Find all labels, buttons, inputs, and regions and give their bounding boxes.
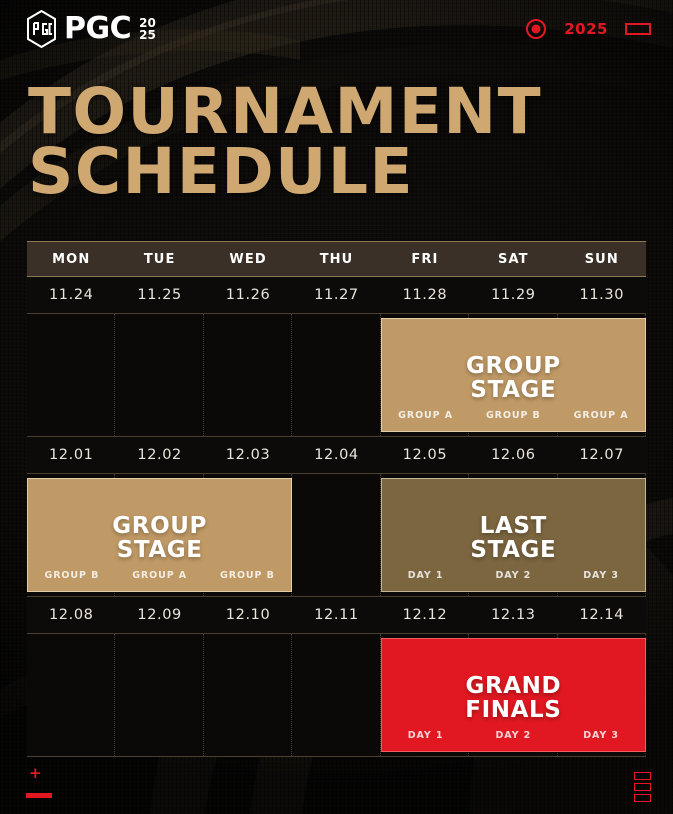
weekday-header-row: MONTUEWEDTHUFRISATSUN xyxy=(27,241,646,277)
event-sublabel: GROUP B xyxy=(204,570,292,581)
event-title-line-2: STAGE xyxy=(382,378,645,402)
weekday-header-sun: SUN xyxy=(558,242,646,276)
date-row: 12.0812.0912.1012.1112.1212.1312.14 xyxy=(27,597,646,634)
bar-mark-icon xyxy=(26,793,52,798)
event-sublabel: GROUP A xyxy=(382,410,470,421)
event-sublabels: DAY 1DAY 2DAY 3 xyxy=(382,570,645,581)
schedule-week: 12.0112.0212.0312.0412.0512.0612.07GROUP… xyxy=(27,437,646,597)
date-cell: 12.03 xyxy=(204,437,292,473)
empty-day-cell xyxy=(292,634,380,756)
event-sublabel: DAY 3 xyxy=(557,730,645,741)
weekday-header-sat: SAT xyxy=(469,242,557,276)
event-block[interactable]: GROUPSTAGEGROUP AGROUP BGROUP A xyxy=(381,318,646,432)
empty-day-cell xyxy=(115,634,203,756)
event-title-line-1: GROUP xyxy=(466,353,561,379)
event-sublabels: GROUP AGROUP BGROUP A xyxy=(382,410,645,421)
date-cell: 12.10 xyxy=(204,597,292,633)
date-row: 12.0112.0212.0312.0412.0512.0612.07 xyxy=(27,437,646,474)
date-cell: 12.01 xyxy=(27,437,115,473)
tournament-schedule-table: MONTUEWEDTHUFRISATSUN 11.2411.2511.2611.… xyxy=(27,241,646,757)
event-block[interactable]: GROUPSTAGEGROUP BGROUP AGROUP B xyxy=(27,478,292,592)
empty-day-cell xyxy=(292,314,380,436)
logo-year-bottom: 25 xyxy=(139,30,156,41)
weekday-header-mon: MON xyxy=(27,242,115,276)
logo-wordmark: PGC xyxy=(64,14,131,44)
event-block[interactable]: GRANDFINALSDAY 1DAY 2DAY 3 xyxy=(381,638,646,752)
page-header: PGC 20 25 2025 xyxy=(0,0,673,58)
event-title: GROUPSTAGE xyxy=(382,354,645,402)
stacked-rect-2 xyxy=(634,783,651,791)
header-right-group: 2025 xyxy=(525,18,651,40)
date-row: 11.2411.2511.2611.2711.2811.2911.30 xyxy=(27,277,646,314)
pgc-logo[interactable]: PGC 20 25 xyxy=(26,10,156,48)
empty-day-cell xyxy=(204,634,292,756)
event-sublabel: DAY 2 xyxy=(469,730,557,741)
date-cell: 12.05 xyxy=(381,437,469,473)
date-cell: 11.28 xyxy=(381,277,469,313)
event-sublabel: GROUP B xyxy=(28,570,116,581)
title-line-2: SCHEDULE xyxy=(28,142,653,202)
event-sublabel: DAY 1 xyxy=(382,730,470,741)
event-title-line-2: FINALS xyxy=(382,698,645,722)
events-row: GROUPSTAGEGROUP BGROUP AGROUP BLASTSTAGE… xyxy=(27,474,646,597)
stacked-rect-1 xyxy=(634,772,651,780)
date-cell: 12.12 xyxy=(381,597,469,633)
events-row: GROUPSTAGEGROUP AGROUP BGROUP A xyxy=(27,314,646,437)
date-cell: 12.07 xyxy=(558,437,646,473)
event-title-line-2: STAGE xyxy=(382,538,645,562)
date-cell: 11.29 xyxy=(469,277,557,313)
date-cell: 11.30 xyxy=(558,277,646,313)
event-sublabels: GROUP BGROUP AGROUP B xyxy=(28,570,291,581)
logo-year-stack: 20 25 xyxy=(139,18,156,40)
date-cell: 12.08 xyxy=(27,597,115,633)
event-title-line-1: LAST xyxy=(480,513,547,539)
title-line-1: TOURNAMENT xyxy=(28,82,653,142)
date-cell: 12.04 xyxy=(292,437,380,473)
pgc-shield-icon xyxy=(26,10,57,48)
weeks-container: 11.2411.2511.2611.2711.2811.2911.30GROUP… xyxy=(27,277,646,757)
event-sublabel: GROUP B xyxy=(469,410,557,421)
date-cell: 11.24 xyxy=(27,277,115,313)
weekday-header-tue: TUE xyxy=(115,242,203,276)
weekday-header-fri: FRI xyxy=(381,242,469,276)
date-cell: 12.09 xyxy=(115,597,203,633)
date-cell: 11.25 xyxy=(115,277,203,313)
event-title: GRANDFINALS xyxy=(382,674,645,722)
stacked-rect-3 xyxy=(634,794,651,802)
date-cell: 11.27 xyxy=(292,277,380,313)
date-cell: 12.13 xyxy=(469,597,557,633)
header-year-label: 2025 xyxy=(564,20,608,38)
record-circle-icon[interactable] xyxy=(525,18,547,40)
empty-day-cell xyxy=(27,634,115,756)
event-sublabel: DAY 3 xyxy=(557,570,645,581)
events-row: GRANDFINALSDAY 1DAY 2DAY 3 xyxy=(27,634,646,757)
empty-day-cell xyxy=(27,314,115,436)
empty-day-cell xyxy=(292,474,380,596)
poster-stage: PGC 20 25 2025 TOURNAMENT SCHEDULE xyxy=(0,0,673,814)
event-sublabel: DAY 1 xyxy=(382,570,470,581)
event-block[interactable]: LASTSTAGEDAY 1DAY 2DAY 3 xyxy=(381,478,646,592)
plus-mark-icon: + xyxy=(29,766,42,781)
event-title-line-1: GRAND xyxy=(465,673,561,699)
empty-day-cell xyxy=(115,314,203,436)
event-sublabel: GROUP A xyxy=(557,410,645,421)
event-title: LASTSTAGE xyxy=(382,514,645,562)
date-cell: 12.14 xyxy=(558,597,646,633)
page-title: TOURNAMENT SCHEDULE xyxy=(28,82,653,202)
date-cell: 12.11 xyxy=(292,597,380,633)
date-cell: 11.26 xyxy=(204,277,292,313)
event-sublabel: GROUP A xyxy=(116,570,204,581)
weekday-header-wed: WED xyxy=(204,242,292,276)
schedule-week: 11.2411.2511.2611.2711.2811.2911.30GROUP… xyxy=(27,277,646,437)
event-title-line-2: STAGE xyxy=(28,538,291,562)
event-title: GROUPSTAGE xyxy=(28,514,291,562)
weekday-header-thu: THU xyxy=(292,242,380,276)
event-sublabel: DAY 2 xyxy=(469,570,557,581)
empty-day-cell xyxy=(204,314,292,436)
event-title-line-1: GROUP xyxy=(112,513,207,539)
stacked-rectangles-icon[interactable] xyxy=(634,772,651,802)
rectangle-outline-icon[interactable] xyxy=(625,23,651,35)
date-cell: 12.06 xyxy=(469,437,557,473)
footer-left-marks: + xyxy=(26,766,66,800)
schedule-week: 12.0812.0912.1012.1112.1212.1312.14GRAND… xyxy=(27,597,646,757)
event-sublabels: DAY 1DAY 2DAY 3 xyxy=(382,730,645,741)
date-cell: 12.02 xyxy=(115,437,203,473)
